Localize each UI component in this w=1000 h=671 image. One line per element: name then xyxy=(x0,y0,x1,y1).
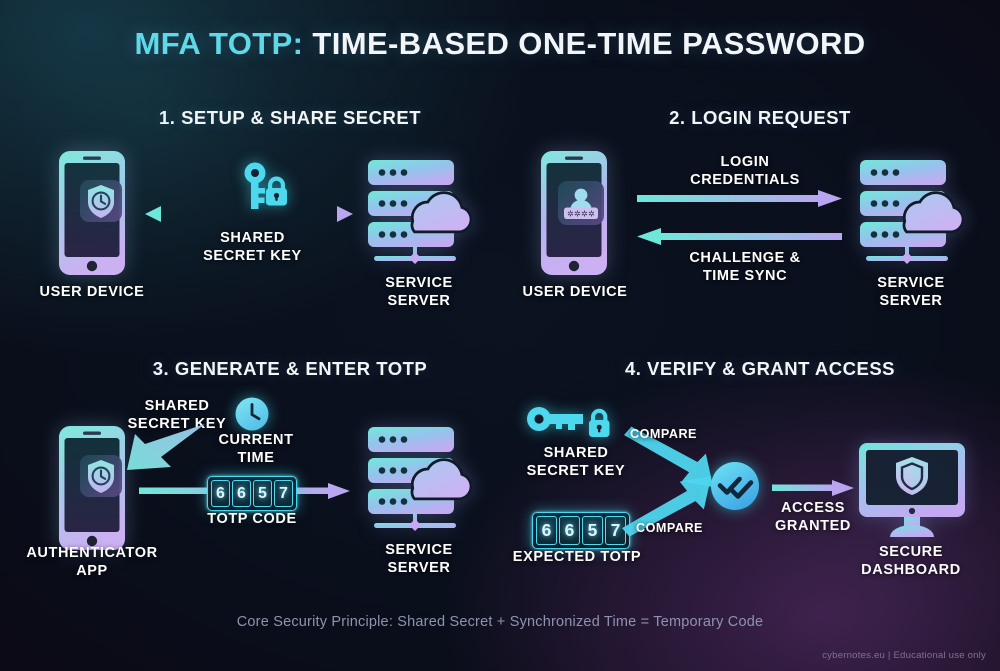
totp-digit: 6 xyxy=(211,480,230,507)
clock-icon xyxy=(234,396,270,432)
node-label-line1: SERVICE xyxy=(338,275,500,293)
node-label-line2: SERVER xyxy=(338,293,500,311)
node-label-service-server-1: SERVICE SERVER xyxy=(338,275,500,311)
node-label-secure-dashboard: SECURE DASHBOARD xyxy=(828,544,994,580)
totp-code-display: 6 6 5 7 xyxy=(207,476,297,511)
clock-label-line2: TIME xyxy=(198,450,314,468)
totp-digit: 5 xyxy=(253,480,272,507)
node-label-line1: SERVICE xyxy=(338,542,500,560)
totp-digit: 7 xyxy=(274,480,293,507)
label-compare-bottom: COMPARE xyxy=(636,521,740,537)
phone-shield-clock-icon xyxy=(58,425,126,551)
flow-label-shared-secret-key-1: SHARED SECRET KEY xyxy=(175,230,330,266)
svg-text:✲: ✲ xyxy=(574,210,581,219)
page-title-rest: TIME-BASED ONE-TIME PASSWORD xyxy=(312,26,865,61)
section-heading-4: 4. VERIFY & GRANT ACCESS xyxy=(560,358,960,380)
flow-label-line1: SHARED xyxy=(175,230,330,248)
page-title-accent: MFA TOTP: xyxy=(134,26,312,61)
expected-digit: 6 xyxy=(536,516,557,545)
arrow-label-login-credentials: LOGIN CREDENTIALS xyxy=(650,154,840,190)
label-current-time: CURRENT TIME xyxy=(198,432,314,468)
arrow-left-challenge-time-sync xyxy=(637,228,842,246)
node-label-line2: SERVER xyxy=(338,560,500,578)
arrow-right-login-credentials xyxy=(637,190,842,208)
svg-text:✲: ✲ xyxy=(581,210,588,219)
svg-text:✲: ✲ xyxy=(588,210,595,219)
arrow-label-line1: LOGIN xyxy=(650,154,840,172)
expected-totp-cells: 6 6 5 7 xyxy=(532,512,630,549)
dashboard-label-line2: DASHBOARD xyxy=(828,562,994,580)
flow-label-line2: SECRET KEY xyxy=(175,248,330,266)
server-cloud-icon xyxy=(360,425,478,537)
arrow-secret-to-app xyxy=(127,424,205,474)
server-cloud-icon xyxy=(852,158,970,270)
section-heading-2: 2. LOGIN REQUEST xyxy=(560,107,960,129)
node-label-user-device-2: USER DEVICE xyxy=(495,284,655,302)
arrow-label-line2: CREDENTIALS xyxy=(650,172,840,190)
totp-code-cells: 6 6 5 7 xyxy=(207,476,297,511)
page-title: MFA TOTP: TIME-BASED ONE-TIME PASSWORD xyxy=(0,26,1000,62)
expected-digit: 6 xyxy=(559,516,580,545)
arrow-access-granted xyxy=(772,480,854,496)
node-label-line2: APP xyxy=(8,563,176,581)
key-lock-icon xyxy=(525,404,617,444)
label-compare-top: COMPARE xyxy=(630,427,734,443)
footer-credit: cybernotes.eu | Educational use only xyxy=(0,650,1000,661)
bidirectional-dashed-arrow xyxy=(145,203,353,225)
phone-shield-clock-icon xyxy=(58,150,126,276)
arrow-label-line2: TIME SYNC xyxy=(650,268,840,286)
expected-digit: 5 xyxy=(582,516,603,545)
dashboard-label-line1: SECURE xyxy=(828,544,994,562)
label-expected-totp: EXPECTED TOTP xyxy=(494,549,660,567)
node-label-line2: SERVER xyxy=(830,293,992,311)
node-label-service-server-2: SERVICE SERVER xyxy=(830,275,992,311)
node-label-user-device-1: USER DEVICE xyxy=(12,284,172,302)
node-label-service-server-3: SERVICE SERVER xyxy=(338,542,500,578)
section-heading-1: 1. SETUP & SHARE SECRET xyxy=(60,107,520,129)
clock-label-line1: CURRENT xyxy=(198,432,314,450)
section-heading-3: 3. GENERATE & ENTER TOTP xyxy=(60,358,520,380)
node-label-line1: SERVICE xyxy=(830,275,992,293)
totp-digit: 6 xyxy=(232,480,251,507)
phone-user-password-icon: ✲✲✲✲ xyxy=(540,150,608,276)
label-totp-code: TOTP CODE xyxy=(182,511,322,529)
svg-text:✲: ✲ xyxy=(567,210,574,219)
arrow-label-challenge-time-sync: CHALLENGE & TIME SYNC xyxy=(650,250,840,286)
footer-principle: Core Security Principle: Shared Secret +… xyxy=(0,614,1000,630)
monitor-shield-icon xyxy=(857,441,967,539)
infographic-canvas: MFA TOTP: TIME-BASED ONE-TIME PASSWORD 1… xyxy=(0,0,1000,671)
node-label-authenticator-app: AUTHENTICATOR APP xyxy=(8,545,176,581)
server-cloud-icon xyxy=(360,158,478,270)
arrow-label-line1: CHALLENGE & xyxy=(650,250,840,268)
expected-totp-display: 6 6 5 7 xyxy=(532,512,630,549)
secret-label-line1: SHARED xyxy=(118,398,236,416)
node-label-line1: AUTHENTICATOR xyxy=(8,545,176,563)
